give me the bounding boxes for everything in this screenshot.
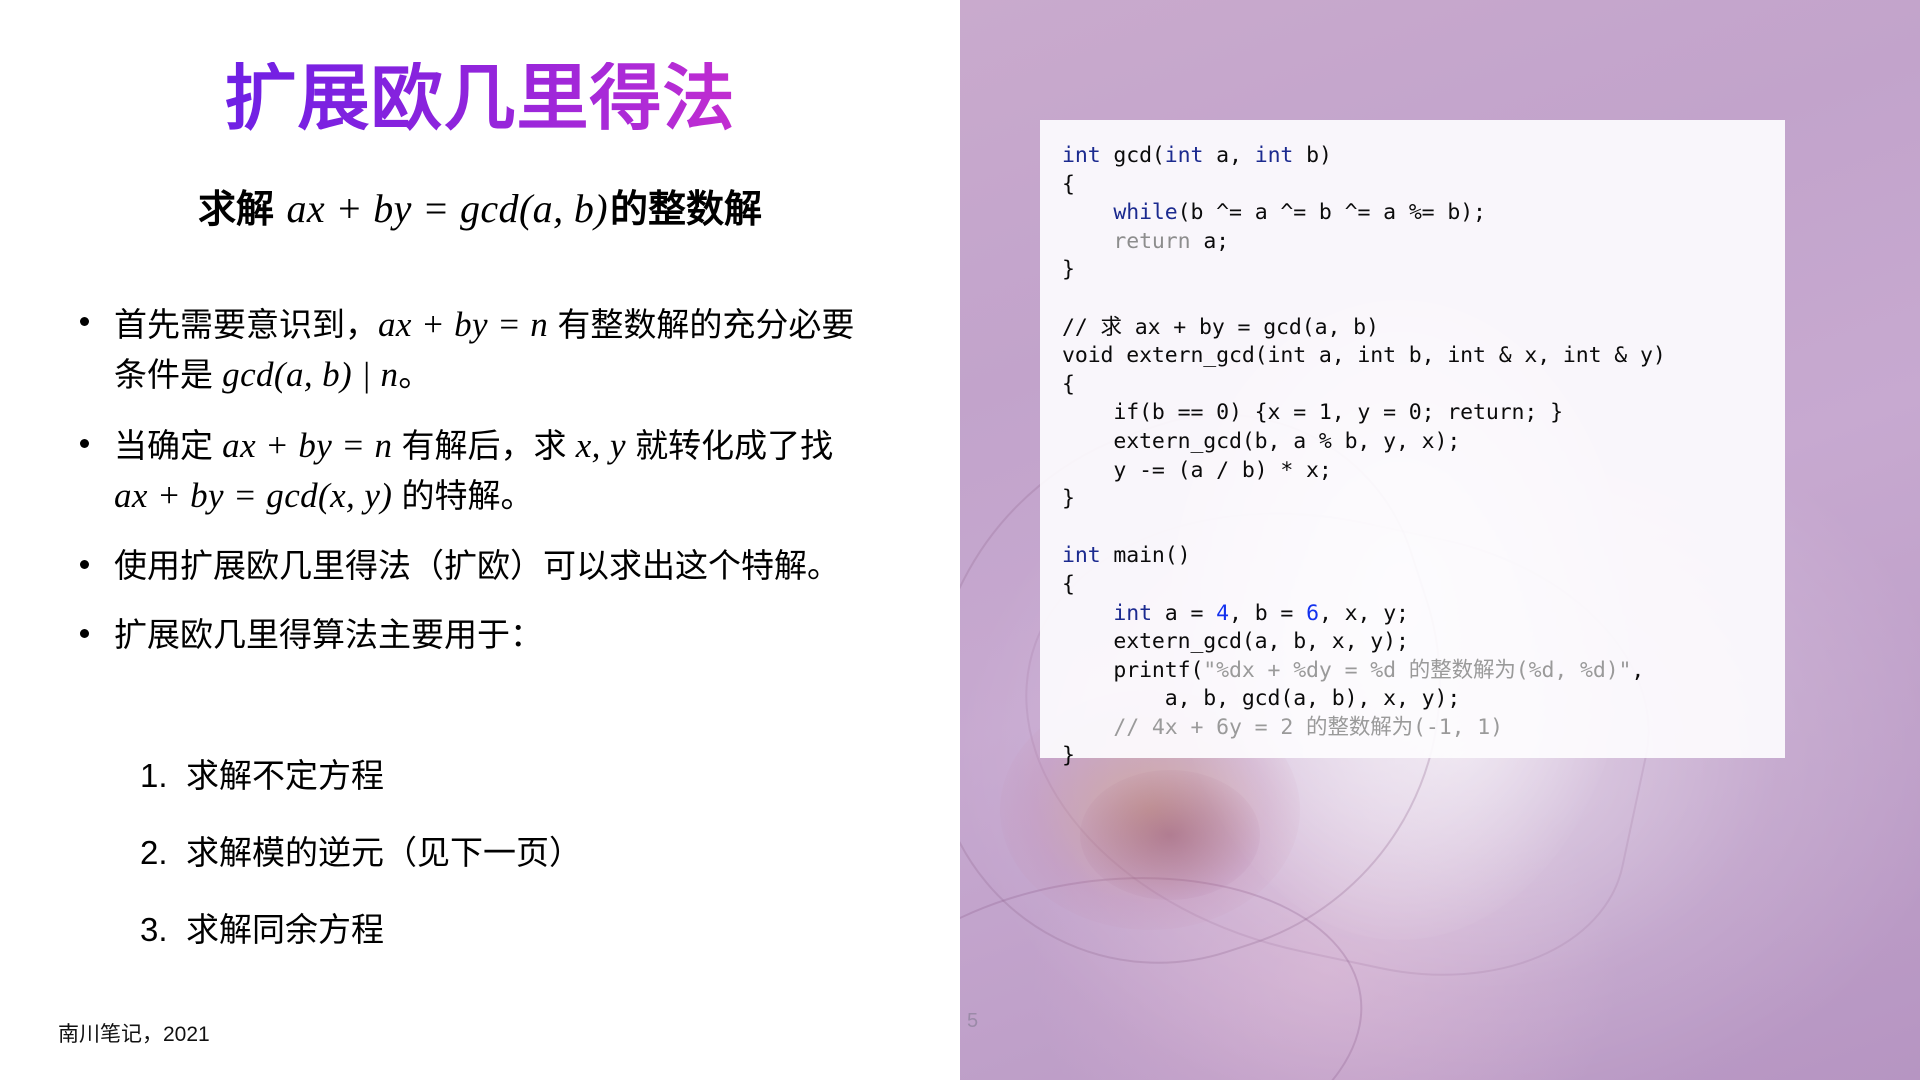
list-item-label: 求解同余方程: [186, 911, 384, 948]
code-token: a;: [1190, 229, 1229, 254]
code-line: a, b, gcd(a, b), x, y);: [1062, 686, 1460, 711]
code-token: y -= (a / b) * x;: [1062, 458, 1332, 483]
code-token: extern_gcd(a, b, x, y);: [1062, 629, 1409, 654]
bullet-dot-icon: [80, 439, 89, 448]
code-token: extern_gcd(b, a % b, y, x);: [1062, 429, 1460, 454]
code-token: int: [1255, 143, 1294, 168]
code-token: int: [1062, 143, 1101, 168]
code-token: 6: [1306, 601, 1319, 626]
presentation-slide: 扩展欧几里得法 求解 ax + by = gcd(a, b)的整数解 首先需要意…: [0, 0, 1920, 1080]
code-token: return: [1113, 229, 1190, 254]
code-token: , x, y;: [1319, 601, 1409, 626]
code-line: if(b == 0) {x = 1, y = 0; return; }: [1062, 400, 1563, 425]
code-line: int gcd(int a, int b): [1062, 143, 1332, 168]
code-line: return a;: [1062, 229, 1229, 254]
code-token: }: [1062, 486, 1075, 511]
code-token: ,: [1631, 658, 1644, 683]
code-token: a =: [1152, 601, 1216, 626]
list-item-number: 1.: [140, 755, 186, 798]
code-token: (b ^= a ^= b ^= a %= b);: [1178, 200, 1486, 225]
code-line: while(b ^= a ^= b ^= a %= b);: [1062, 200, 1486, 225]
code-line: printf("%dx + %dy = %d 的整数解为(%d, %d)",: [1062, 658, 1644, 683]
page-title: 扩展欧几里得法: [0, 62, 960, 138]
list-item-number: 3.: [140, 909, 186, 952]
background-swirl-lower: [960, 845, 1383, 1080]
code-line: {: [1062, 372, 1075, 397]
code-token: [1062, 229, 1113, 254]
code-token: while: [1113, 200, 1177, 225]
list-item: 1.求解不定方程: [140, 755, 880, 798]
code-token: "%dx + %dy = %d 的整数解为(%d, %d)": [1203, 658, 1631, 683]
code-line: y -= (a / b) * x;: [1062, 458, 1332, 483]
code-token: int: [1062, 543, 1101, 568]
code-token: [1062, 200, 1113, 225]
code-token: 4: [1216, 601, 1229, 626]
inline-math: ax + by = n: [222, 426, 392, 465]
inline-text: 首先需要意识到，: [114, 306, 378, 343]
code-token: }: [1062, 257, 1075, 282]
code-token: {: [1062, 372, 1075, 397]
bullet-dot-icon: [80, 560, 89, 569]
bullet-dot-icon: [80, 317, 89, 326]
bullet-use-exgcd: 使用扩展欧几里得法（扩欧）可以求出这个特解。: [78, 543, 868, 590]
code-token: // 求 ax + by = gcd(a, b): [1062, 315, 1379, 340]
inline-text: 有解后，求: [392, 427, 575, 464]
list-item: 2.求解模的逆元（见下一页）: [140, 832, 880, 875]
inline-math: ax + by = gcd(x, y): [114, 476, 392, 515]
code-token: int: [1113, 601, 1152, 626]
bullet-applications: 扩展欧几里得算法主要用于：: [78, 612, 868, 659]
inline-text: 扩展欧几里得算法主要用于：: [114, 616, 543, 653]
code-line: extern_gcd(a, b, x, y);: [1062, 629, 1409, 654]
inline-text: 使用扩展欧几里得法（扩欧）可以求出这个特解。: [114, 547, 840, 584]
footer-attribution: 南川笔记，2021: [58, 1018, 210, 1048]
code-token: {: [1062, 572, 1075, 597]
inline-text: 就转化成了找: [626, 427, 833, 464]
code-token: b): [1293, 143, 1332, 168]
code-line: // 4x + 6y = 2 的整数解为(-1, 1): [1062, 715, 1503, 740]
list-item-label: 求解模的逆元（见下一页）: [186, 834, 582, 871]
code-token: a,: [1203, 143, 1254, 168]
inline-math: gcd(a, b) | n: [222, 355, 398, 394]
code-token: [1062, 601, 1113, 626]
bullet-reduce-to-special-solution: 当确定 ax + by = n 有解后，求 x, y 就转化成了找 ax + b…: [78, 421, 868, 520]
inline-text: 。: [398, 356, 431, 393]
inline-text: 的特解。: [392, 477, 533, 514]
code-token: {: [1062, 172, 1075, 197]
code-token: a, b, gcd(a, b), x, y);: [1062, 686, 1460, 711]
code-line: }: [1062, 257, 1075, 282]
slide-subtitle: 求解 ax + by = gcd(a, b)的整数解: [0, 178, 960, 233]
code-line: }: [1062, 743, 1075, 768]
background-dark-blob: [1080, 770, 1260, 900]
subtitle-equation: ax + by = gcd(a, b): [285, 186, 611, 231]
code-line: {: [1062, 172, 1075, 197]
code-token: main(): [1101, 543, 1191, 568]
subtitle-tail: 的整数解: [610, 189, 762, 231]
slide-right-pane: int gcd(int a, int b) { while(b ^= a ^= …: [960, 0, 1920, 1080]
inline-text: 当确定: [114, 427, 222, 464]
code-token: void extern_gcd(int a, int b, int & x, i…: [1062, 343, 1666, 368]
code-block: int gcd(int a, int b) { while(b ^= a ^= …: [1062, 142, 1785, 771]
code-token: if(b == 0) {x = 1, y = 0; return; }: [1062, 400, 1563, 425]
code-line: {: [1062, 572, 1075, 597]
code-token: , b =: [1229, 601, 1306, 626]
list-item-label: 求解不定方程: [186, 757, 384, 794]
code-token: // 4x + 6y = 2 的整数解为(-1, 1): [1062, 715, 1503, 740]
code-block-panel: int gcd(int a, int b) { while(b ^= a ^= …: [1040, 120, 1785, 758]
inline-math: ax + by = n: [378, 305, 548, 344]
inline-math: x, y: [576, 426, 626, 465]
list-item-number: 2.: [140, 832, 186, 875]
code-line: }: [1062, 486, 1075, 511]
code-line: int main(): [1062, 543, 1190, 568]
code-token: }: [1062, 743, 1075, 768]
page-number: 5: [967, 1010, 978, 1033]
code-token: int: [1165, 143, 1204, 168]
code-line: // 求 ax + by = gcd(a, b): [1062, 315, 1379, 340]
subtitle-lead: 求解: [198, 189, 285, 231]
list-item: 3.求解同余方程: [140, 909, 880, 952]
code-line: int a = 4, b = 6, x, y;: [1062, 601, 1409, 626]
code-line: void extern_gcd(int a, int b, int & x, i…: [1062, 343, 1666, 368]
code-token: gcd(: [1101, 143, 1165, 168]
bullet-dot-icon: [80, 629, 89, 638]
bullet-list: 首先需要意识到，ax + by = n 有整数解的充分必要条件是 gcd(a, …: [78, 300, 868, 680]
code-token: printf(: [1062, 658, 1203, 683]
code-line: extern_gcd(b, a % b, y, x);: [1062, 429, 1460, 454]
slide-left-pane: 扩展欧几里得法 求解 ax + by = gcd(a, b)的整数解 首先需要意…: [0, 0, 960, 1080]
bullet-sufficient-condition: 首先需要意识到，ax + by = n 有整数解的充分必要条件是 gcd(a, …: [78, 300, 868, 399]
numbered-list: 1.求解不定方程2.求解模的逆元（见下一页）3.求解同余方程: [140, 755, 880, 986]
